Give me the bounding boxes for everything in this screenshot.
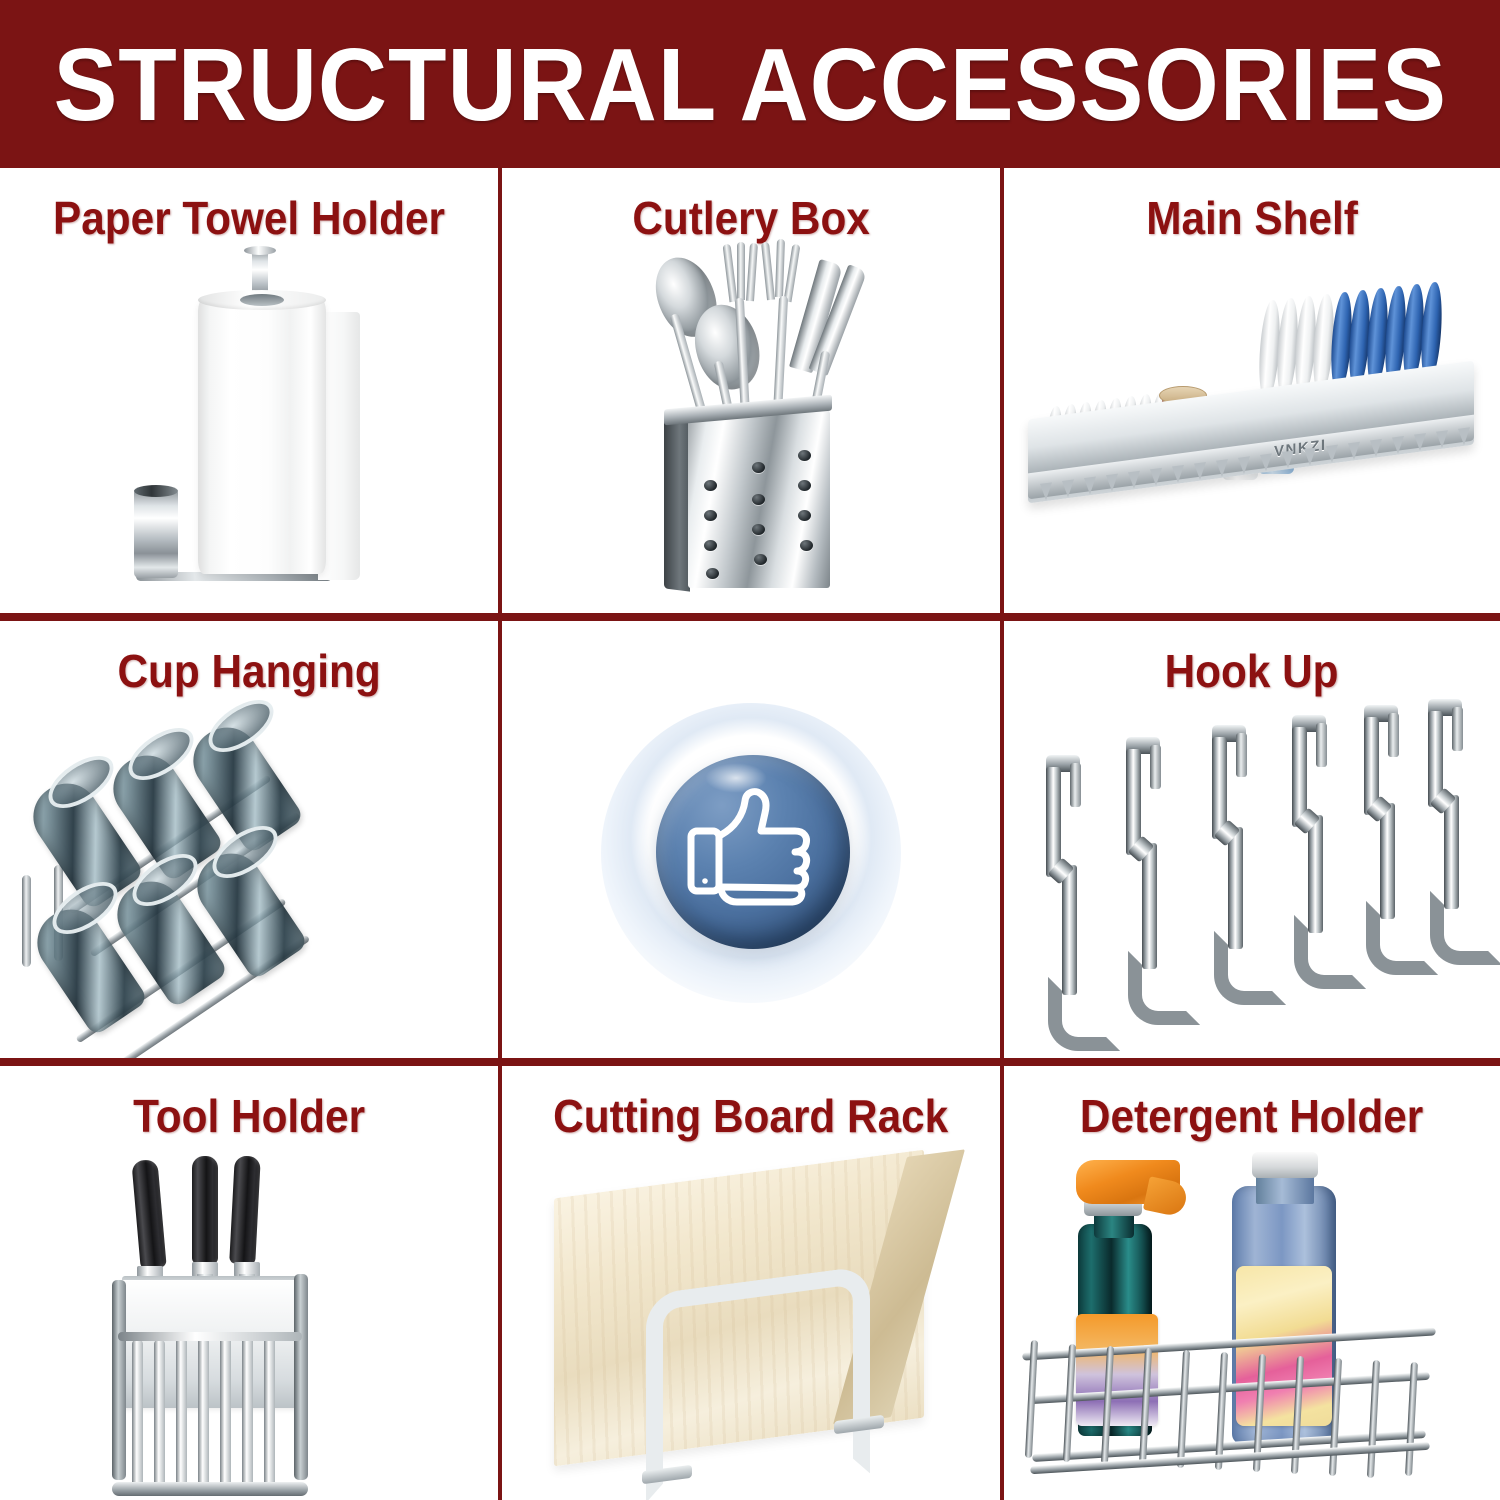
product-cell-thumbs-up-badge[interactable]: [502, 621, 1000, 1058]
thumbs-up-icon: [687, 787, 817, 909]
cup-rack-bracket-left: [22, 875, 31, 967]
cell-label-tool-holder: Tool Holder: [133, 1092, 365, 1140]
tool-holder-panel: [118, 1280, 304, 1408]
knife-handle-1: [131, 1159, 166, 1269]
product-image-hook-up: [1004, 695, 1500, 1058]
cell-label-main-shelf: Main Shelf: [1146, 194, 1358, 242]
product-cell-tool-holder[interactable]: Tool Holder: [0, 1066, 498, 1500]
tool-holder-side-right: [294, 1274, 308, 1480]
tool-holder-bottom-rail: [112, 1482, 308, 1496]
product-image-cutlery-box: [502, 242, 1000, 613]
product-image-tool-holder: [0, 1140, 498, 1500]
cutlery-box-drain-holes: [704, 458, 814, 574]
header-banner: STRUCTURAL ACCESSORIES: [0, 0, 1500, 168]
product-image-cup-hanging: [0, 695, 498, 1058]
paper-towel-rod-cap: [244, 246, 276, 255]
product-image-detergent-holder: [1004, 1140, 1500, 1500]
spray-bottle-lever: [1143, 1177, 1189, 1219]
fork-1-head: [726, 244, 766, 308]
tool-holder-side-left: [112, 1280, 126, 1480]
cell-label-paper-towel-holder: Paper Towel Holder: [53, 194, 445, 242]
knife-handle-2: [192, 1156, 218, 1264]
product-image-cutting-board-rack: [502, 1140, 1000, 1500]
product-image-main-shelf: VNKZI: [1004, 242, 1500, 613]
wire-basket: [1022, 1326, 1436, 1482]
paper-towel-roll: [198, 298, 326, 574]
product-image-paper-towel-holder: [0, 242, 498, 613]
cell-label-cutlery-box: Cutlery Box: [632, 194, 870, 242]
detergent-bottle-cap: [1252, 1152, 1318, 1178]
cell-label-hook-up: Hook Up: [1165, 647, 1339, 695]
cell-label-cutting-board-rack: Cutting Board Rack: [553, 1092, 948, 1140]
cell-label-cup-hanging: Cup Hanging: [117, 647, 380, 695]
knife-handle-3: [229, 1156, 261, 1265]
cutlery-box-side-panel: [664, 417, 690, 592]
grid-divider-horizontal-1: [0, 613, 1500, 621]
paper-towel-post: [134, 490, 178, 578]
page-title: STRUCTURAL ACCESSORIES: [53, 33, 1447, 136]
product-image-thumbs-up-badge: [502, 647, 1000, 1058]
cutting-board-rack-frame: [646, 1266, 870, 1500]
product-cell-cup-hanging[interactable]: Cup Hanging: [0, 621, 498, 1058]
product-cell-detergent-holder[interactable]: Detergent Holder: [1004, 1066, 1500, 1500]
product-cell-main-shelf[interactable]: Main Shelf: [1004, 168, 1500, 613]
product-cell-hook-up[interactable]: Hook Up: [1004, 621, 1500, 1058]
product-grid: Paper Towel Holder Cutlery Box: [0, 168, 1500, 1500]
grid-divider-horizontal-2: [0, 1058, 1500, 1066]
product-cell-cutting-board-rack[interactable]: Cutting Board Rack: [502, 1066, 1000, 1500]
cell-label-detergent-holder: Detergent Holder: [1080, 1092, 1423, 1140]
product-cell-paper-towel-holder[interactable]: Paper Towel Holder: [0, 168, 498, 613]
product-cell-cutlery-box[interactable]: Cutlery Box: [502, 168, 1000, 613]
